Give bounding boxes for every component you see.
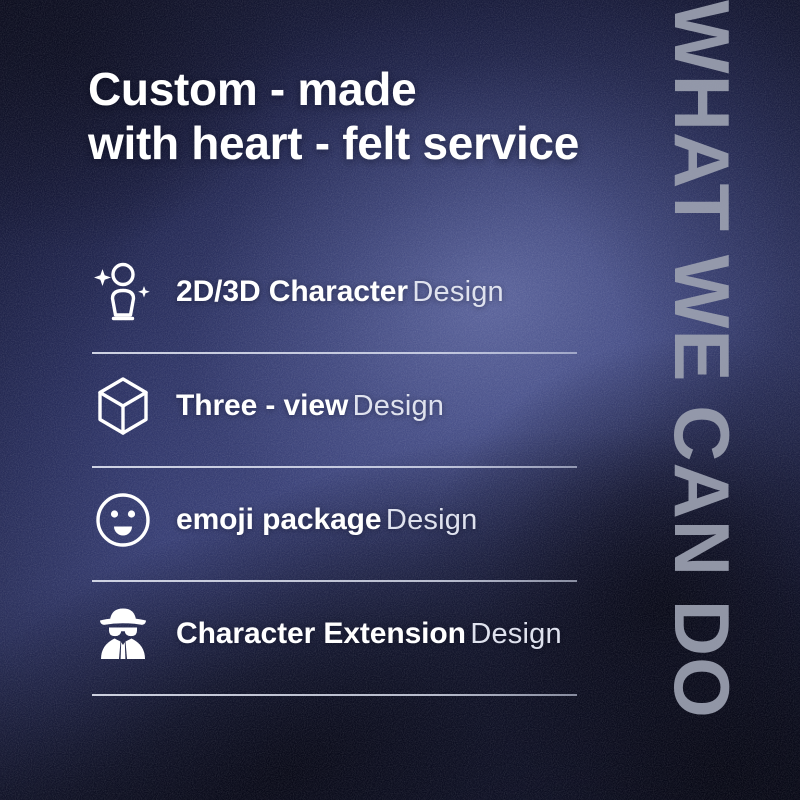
list-item-subtitle: Design [412, 276, 503, 308]
person-sparkle-icon [92, 256, 154, 328]
list-divider [92, 694, 577, 696]
poster-canvas: Custom - made with heart - felt service [0, 0, 800, 800]
page-title: Custom - made with heart - felt service [88, 62, 688, 170]
list-item[interactable]: Three - view Design [88, 354, 588, 468]
smiley-face-icon [92, 484, 154, 556]
list-item[interactable]: emoji package Design [88, 468, 588, 582]
list-item-subtitle: Design [386, 504, 477, 536]
list-item-title: Character Extension [176, 617, 466, 650]
list-item-title: emoji package [176, 503, 381, 536]
list-item[interactable]: Character Extension Design [88, 582, 588, 696]
list-item-title: Three - view [176, 389, 348, 422]
cube-icon [92, 370, 154, 442]
list-item-labels: Character Extension Design [176, 616, 588, 652]
content-column: Custom - made with heart - felt service [0, 0, 700, 800]
list-item-labels: emoji package Design [176, 502, 588, 538]
list-item-labels: Three - view Design [176, 388, 588, 424]
spy-agent-icon [92, 598, 154, 670]
list-item[interactable]: 2D/3D Character Design [88, 240, 588, 354]
list-item-labels: 2D/3D Character Design [176, 274, 588, 310]
service-list: 2D/3D Character Design [88, 240, 588, 696]
list-item-subtitle: Design [470, 618, 561, 650]
list-item-subtitle: Design [353, 390, 444, 422]
list-item-title: 2D/3D Character [176, 275, 408, 308]
